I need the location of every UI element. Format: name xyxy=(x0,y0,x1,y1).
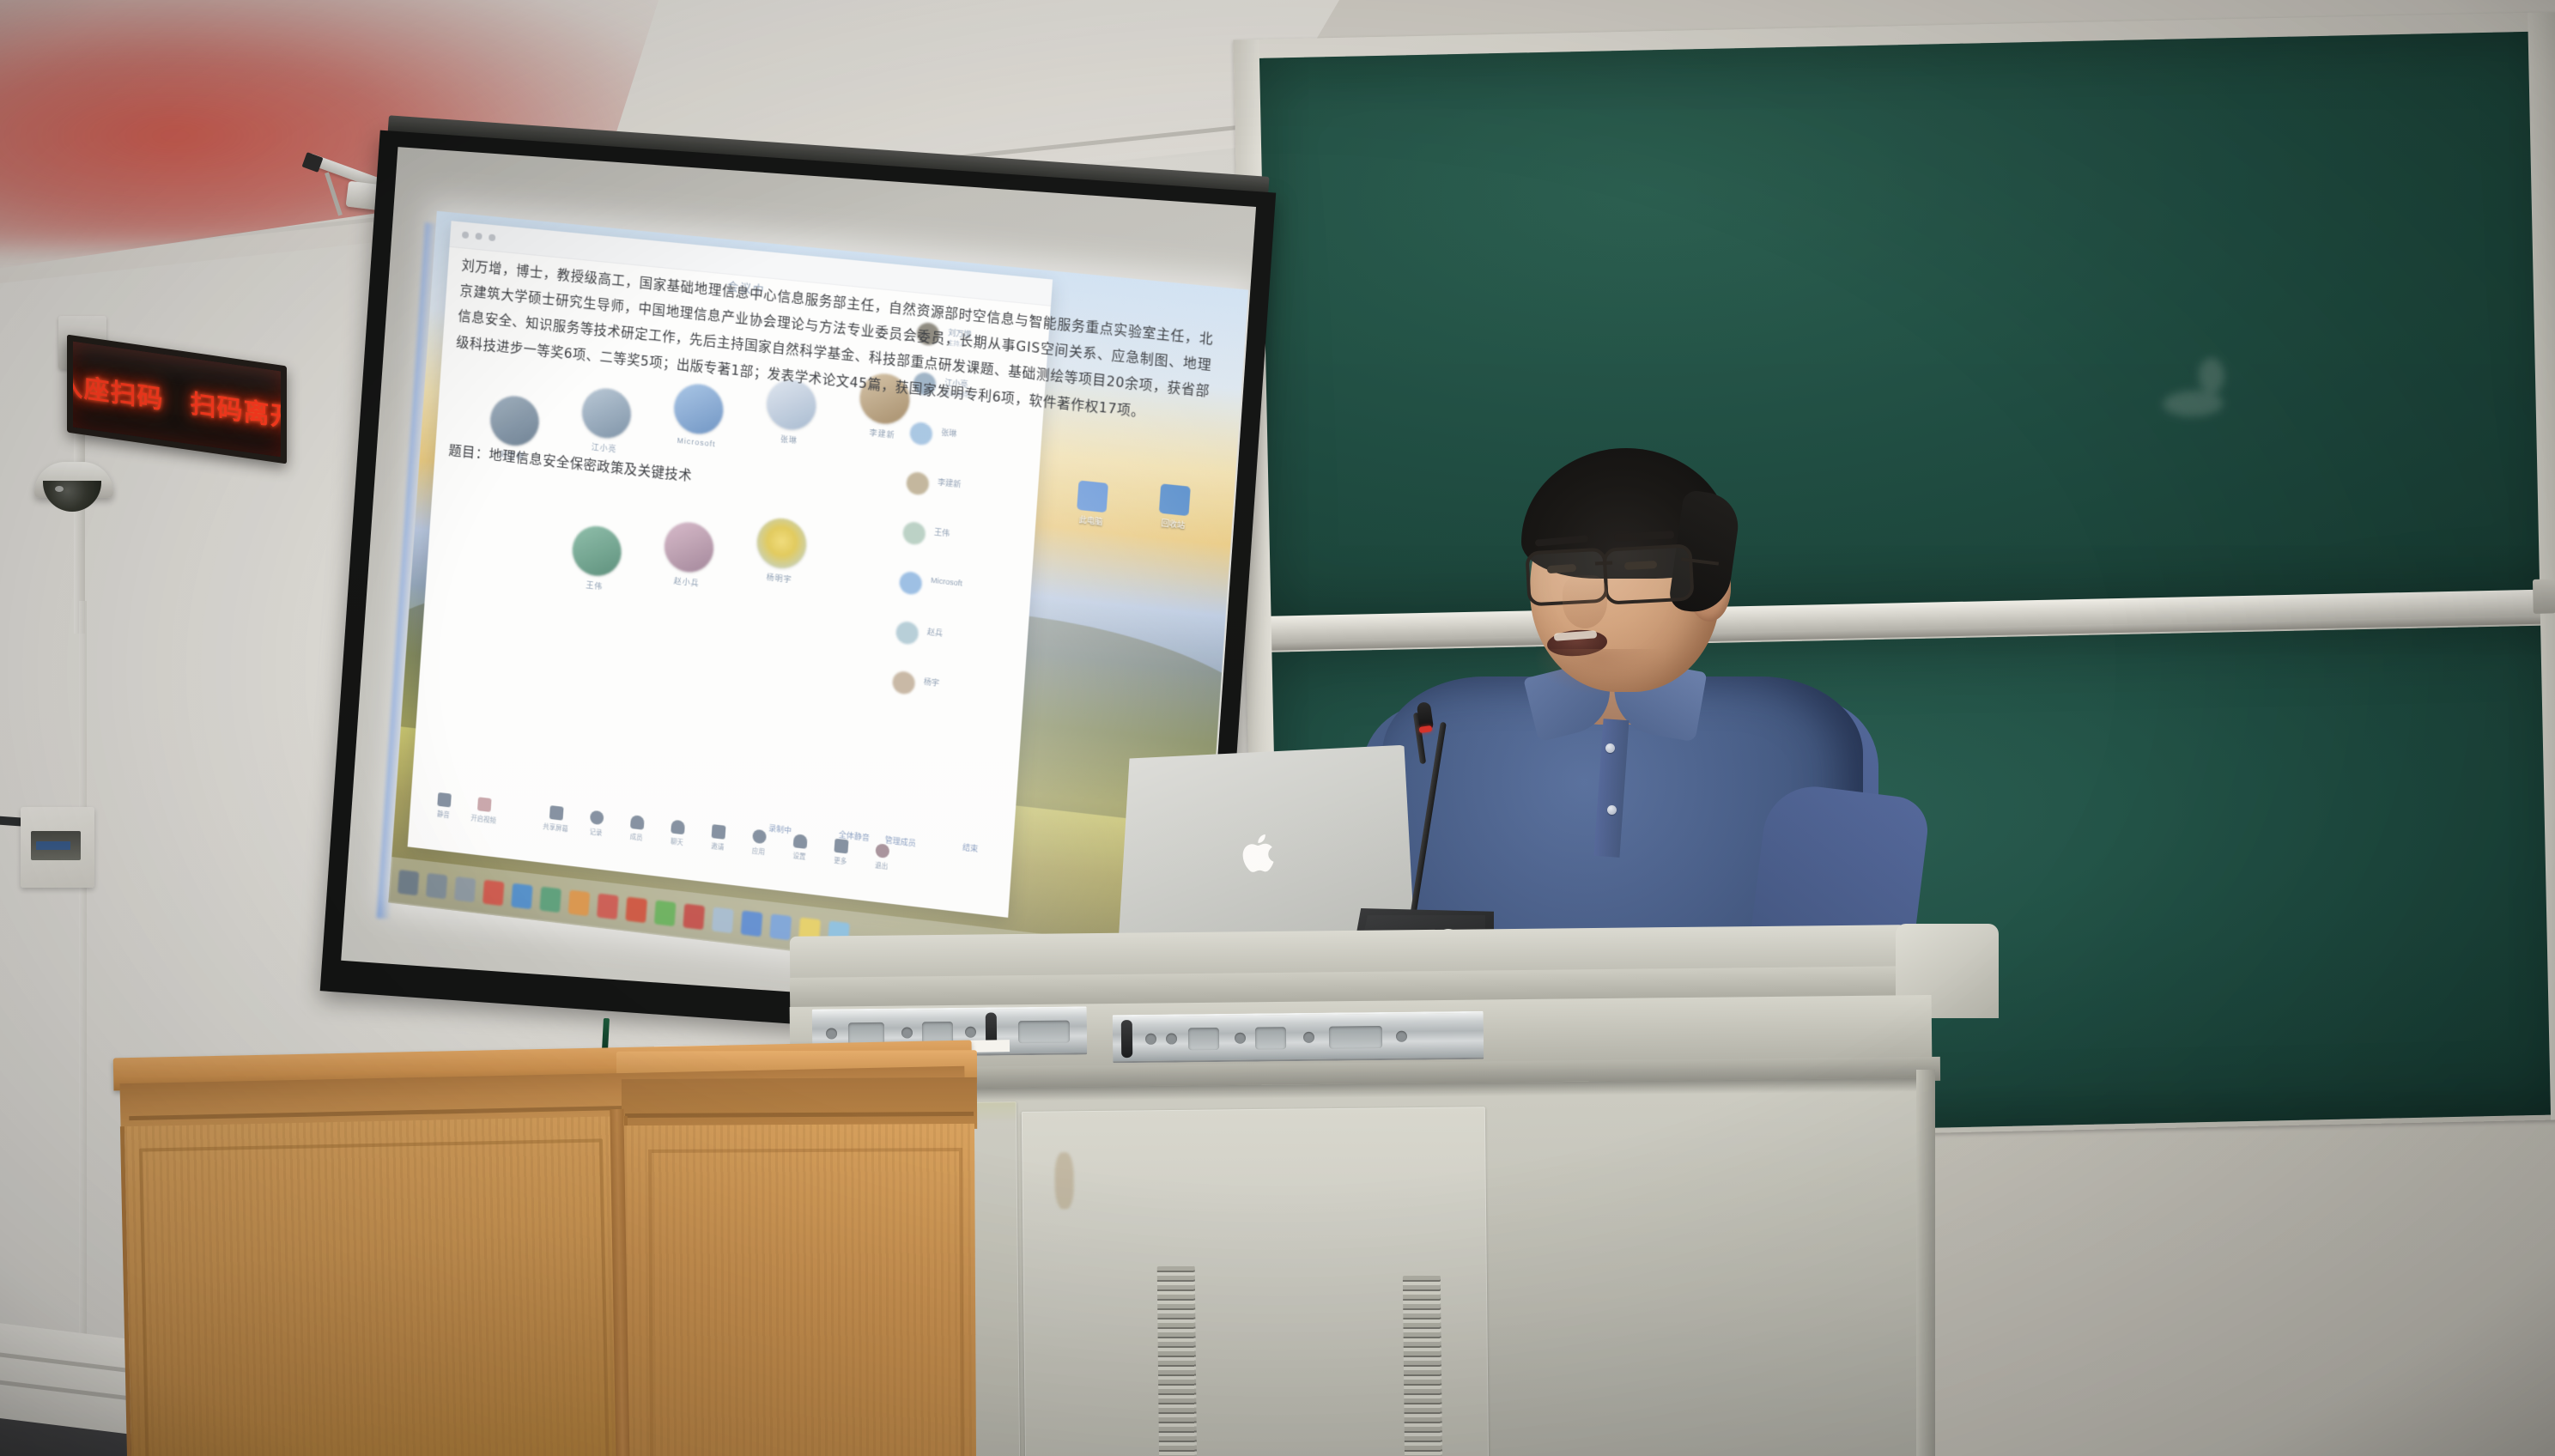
lectern-cornice-right xyxy=(622,1077,977,1131)
toolbar-share-screen-button[interactable]: 共享屏幕 xyxy=(533,804,579,835)
participant-name: 赵小兵 xyxy=(656,573,718,591)
participant-name: Microsoft xyxy=(665,435,727,450)
taskbar-search-icon[interactable] xyxy=(426,873,447,899)
toolbar-label: 共享屏幕 xyxy=(533,821,578,835)
taskbar-app-icon[interactable] xyxy=(741,910,763,937)
lectern-side-panel-moulding xyxy=(648,1148,964,1456)
toolbar-label: 设置 xyxy=(777,849,822,864)
taskbar-app-icon[interactable] xyxy=(597,894,619,920)
participant-name: 李建新 xyxy=(938,476,962,490)
rail-slot xyxy=(1188,1028,1219,1050)
participant-name: 张琳 xyxy=(758,431,820,448)
avatar xyxy=(571,524,623,579)
rail-hole xyxy=(1396,1031,1407,1042)
participant-tile[interactable]: 王伟 xyxy=(564,523,629,594)
participant-name: Microsoft xyxy=(931,576,962,588)
taskbar-task-view-icon[interactable] xyxy=(454,877,476,902)
apps-icon xyxy=(752,829,767,845)
dome-lens-glint xyxy=(55,486,64,492)
taskbar-app-icon[interactable] xyxy=(511,883,532,909)
ventilation-slots xyxy=(1157,1266,1198,1456)
avatar xyxy=(489,394,541,448)
chin-shadow xyxy=(1535,649,1664,694)
rail-hole xyxy=(826,1028,837,1039)
wall-conduit-lower xyxy=(79,601,87,1374)
participant-name: 杨明宇 xyxy=(748,569,810,587)
share-screen-icon xyxy=(549,805,564,821)
taskbar-app-icon[interactable] xyxy=(568,890,590,917)
toolbar-label: 聊天 xyxy=(654,834,699,849)
taskbar-app-icon[interactable] xyxy=(769,913,792,940)
toolbar-label: 开启视频 xyxy=(461,812,505,827)
participant-name: 杨宇 xyxy=(924,676,940,689)
microphone-icon xyxy=(437,792,452,808)
console-right-edge xyxy=(1916,1070,1935,1456)
cabinet-door-right[interactable] xyxy=(1022,1107,1489,1456)
door-stain xyxy=(1054,1152,1074,1209)
toolbar-video-button[interactable]: 开启视频 xyxy=(461,795,507,827)
avatar xyxy=(902,521,926,546)
chat-icon xyxy=(671,820,685,835)
taskbar-app-icon[interactable] xyxy=(654,901,677,927)
avatar xyxy=(672,382,725,437)
toolbar-label: 应用 xyxy=(736,844,780,858)
taskbar-app-icon[interactable] xyxy=(539,887,561,913)
participant-name: 王伟 xyxy=(934,526,950,539)
nose xyxy=(1563,575,1607,628)
desktop-icon-label: 回收站 xyxy=(1144,515,1201,532)
rail-hole xyxy=(965,1027,976,1038)
led-sign-text: 入座扫码 扫码离开 xyxy=(67,363,287,435)
participant-name: 张琳 xyxy=(941,426,957,439)
toolbar-label: 静音 xyxy=(422,808,465,822)
glasses-lens-right xyxy=(1602,543,1694,604)
settings-icon xyxy=(793,834,808,849)
ventilation-slots xyxy=(1403,1276,1442,1456)
lectern-front-panel-moulding xyxy=(139,1138,610,1456)
avatar xyxy=(895,621,919,646)
taskbar-start-button[interactable] xyxy=(398,870,419,895)
participants-icon xyxy=(630,815,645,830)
desktop-icon-this-pc[interactable] xyxy=(1077,480,1108,513)
toolbar-mute-button[interactable]: 静音 xyxy=(422,791,467,822)
camera-icon xyxy=(477,797,492,812)
window-dot-two[interactable] xyxy=(475,233,482,240)
participant-tile[interactable]: 江小亮 xyxy=(574,385,639,457)
rail-slot xyxy=(1255,1027,1286,1049)
cornice-bead xyxy=(625,1112,974,1118)
participant-tile[interactable]: Microsoft xyxy=(665,381,731,450)
avatar xyxy=(580,386,633,440)
wooden-lectern xyxy=(113,1049,989,1456)
rail-slot xyxy=(1329,1026,1382,1049)
shirt-button xyxy=(1605,743,1615,753)
participant-name: 王伟 xyxy=(564,577,625,595)
toolbar-chat-button[interactable]: 聊天 xyxy=(654,817,700,849)
participant-name: 李建新 xyxy=(851,425,913,442)
rail-hole xyxy=(1145,1034,1156,1045)
teaching-console xyxy=(1022,941,2555,1456)
toolbar-invite-button[interactable]: 邀请 xyxy=(695,822,742,854)
toolbar-label: 退出 xyxy=(859,858,904,873)
drawer-slide-rail-right[interactable] xyxy=(1113,1011,1484,1064)
lecture-hall-scene: 入座扫码 扫码离开 xyxy=(0,0,2555,1456)
taskbar-app-icon[interactable] xyxy=(683,903,705,930)
rail-hole xyxy=(901,1027,913,1038)
toolbar-label: 成员 xyxy=(614,830,658,845)
window-dot-one[interactable] xyxy=(462,231,469,239)
record-icon xyxy=(590,810,604,826)
taskbar-app-icon[interactable] xyxy=(482,880,504,906)
toolbar-record-button[interactable]: 记录 xyxy=(574,809,619,840)
toolbar-participants-button[interactable]: 成员 xyxy=(614,813,659,845)
rail-slot xyxy=(1018,1021,1070,1044)
avatar xyxy=(899,571,923,596)
participant-tile[interactable]: 杨明宇 xyxy=(748,515,814,586)
participant-name: 赵兵 xyxy=(927,626,944,639)
rail-hole xyxy=(1303,1032,1314,1043)
chalk-smudge xyxy=(2163,390,2224,416)
toolbar-label: 邀请 xyxy=(695,840,740,854)
toolbar-label: 记录 xyxy=(574,825,618,840)
toolbar-label: 更多 xyxy=(817,854,863,869)
rail-stop xyxy=(1121,1020,1132,1058)
desktop-icon-label: 此电脑 xyxy=(1063,512,1120,529)
avatar xyxy=(663,520,715,575)
desktop-icon-recycle-bin[interactable] xyxy=(1159,483,1191,516)
avatar xyxy=(756,516,809,571)
invite-icon xyxy=(712,824,726,840)
wall-box-label-strip xyxy=(36,841,70,850)
shirt-button xyxy=(1607,805,1617,815)
toolbar-settings-button[interactable]: 设置 xyxy=(777,832,823,864)
apple-logo-icon xyxy=(1241,831,1279,877)
window-dot-three[interactable] xyxy=(489,234,495,241)
participant-tile[interactable]: 赵小兵 xyxy=(656,519,721,591)
taskbar-app-icon[interactable] xyxy=(712,907,734,933)
taskbar-app-icon[interactable] xyxy=(625,897,647,924)
avatar xyxy=(892,670,916,695)
rail-hole xyxy=(1166,1033,1177,1044)
toolbar-end-meeting-button[interactable]: 结束 xyxy=(962,841,979,854)
avatar xyxy=(909,422,933,446)
rail-hole xyxy=(1235,1033,1246,1044)
chalkboard-rail-bracket xyxy=(2533,579,2555,614)
chalk-smudge xyxy=(2198,357,2224,394)
